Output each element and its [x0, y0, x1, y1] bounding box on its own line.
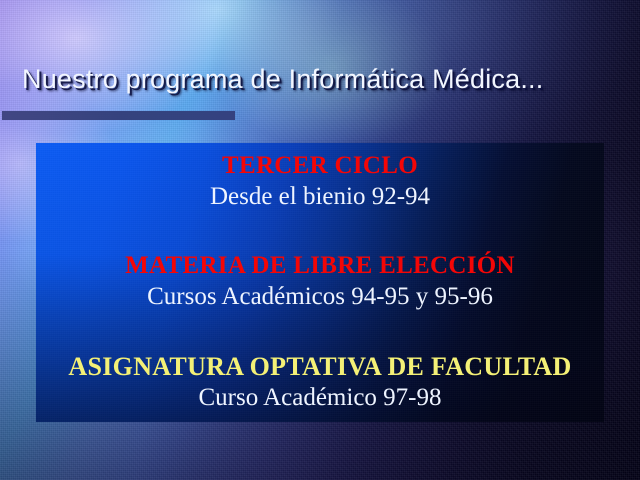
content-block-heading: TERCER CICLO — [36, 151, 604, 181]
content-block-materia-libre-eleccion: MATERIA DE LIBRE ELECCIÓN Cursos Académi… — [36, 251, 604, 313]
content-block-heading: MATERIA DE LIBRE ELECCIÓN — [36, 251, 604, 281]
slide-title: Nuestro programa de Informática Médica..… — [22, 64, 622, 95]
content-panel-text: TERCER CICLO Desde el bienio 92-94 MATER… — [36, 143, 604, 422]
content-block-heading: ASIGNATURA OPTATIVA DE FACULTAD — [36, 352, 604, 382]
content-block-asignatura-optativa: ASIGNATURA OPTATIVA DE FACULTAD Curso Ac… — [36, 352, 604, 414]
content-panel: TERCER CICLO Desde el bienio 92-94 MATER… — [36, 143, 604, 422]
presentation-slide: Nuestro programa de Informática Médica..… — [0, 0, 640, 480]
title-underline-rule — [2, 111, 235, 120]
content-block-tercer-ciclo: TERCER CICLO Desde el bienio 92-94 — [36, 151, 604, 213]
content-block-subtitle: Curso Académico 97-98 — [36, 382, 604, 414]
content-block-subtitle: Desde el bienio 92-94 — [36, 181, 604, 213]
content-block-subtitle: Cursos Académicos 94-95 y 95-96 — [36, 281, 604, 313]
